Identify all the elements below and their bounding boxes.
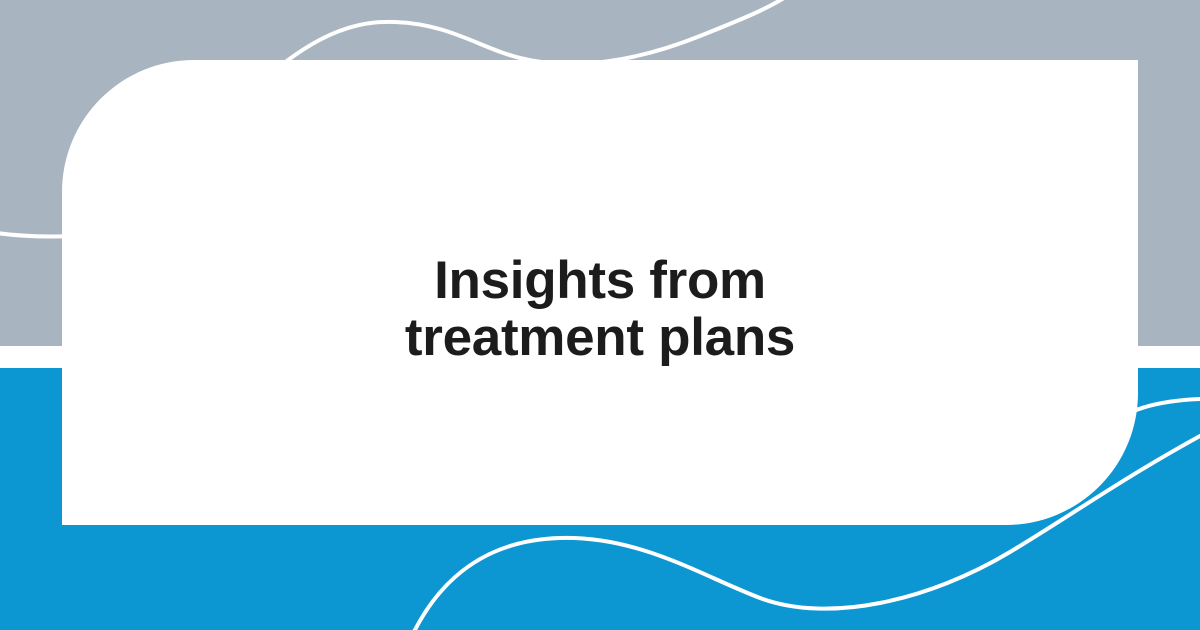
title-container: Insights from treatment plans: [62, 252, 1138, 366]
page-title: Insights from treatment plans: [320, 252, 880, 366]
banner-graphic: Insights from treatment plans: [0, 0, 1200, 630]
